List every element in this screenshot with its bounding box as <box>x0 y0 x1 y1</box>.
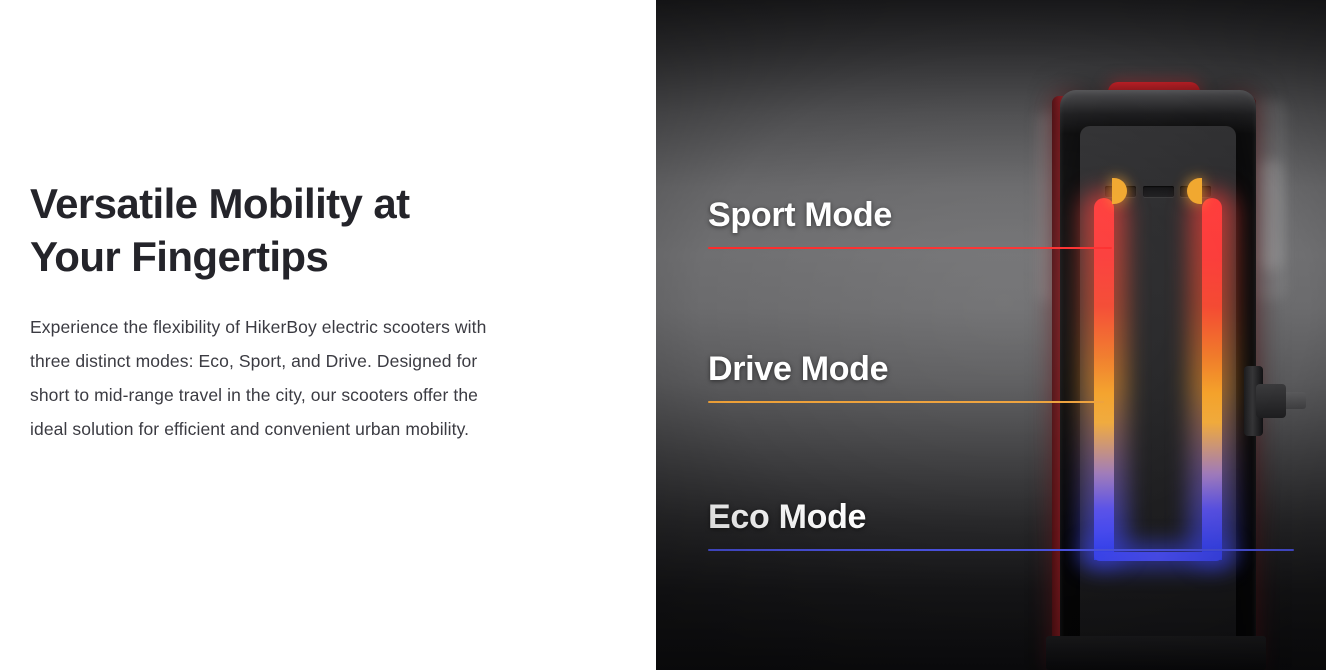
scooter-deck-base <box>1046 636 1266 670</box>
stem-clamp-lever <box>1256 384 1286 418</box>
page-title: Versatile Mobility at Your Fingertips <box>30 178 530 284</box>
callout-line-drive <box>708 401 1104 403</box>
callout-label-drive: Drive Mode <box>708 350 1104 389</box>
callout-drive-mode: Drive Mode <box>708 350 1104 403</box>
scooter-illustration <box>656 0 1326 670</box>
callout-eco-mode: Eco Mode <box>708 498 1294 551</box>
callout-label-eco: Eco Mode <box>708 498 1294 537</box>
background-blur-shape <box>1256 160 1282 270</box>
led-bottom-connector <box>1094 552 1222 561</box>
body-paragraph: Experience the flexibility of HikerBoy e… <box>30 310 520 446</box>
text-column: Versatile Mobility at Your Fingertips Ex… <box>0 0 656 670</box>
text-block: Versatile Mobility at Your Fingertips Ex… <box>30 178 530 446</box>
vent-slot <box>1143 186 1174 197</box>
callout-sport-mode: Sport Mode <box>708 196 1112 249</box>
product-image-panel: Sport Mode Drive Mode Eco Mode <box>656 0 1326 670</box>
callout-line-eco <box>708 549 1294 551</box>
callout-line-sport <box>708 247 1112 249</box>
product-feature-section: Versatile Mobility at Your Fingertips Ex… <box>0 0 1326 670</box>
callout-label-sport: Sport Mode <box>708 196 1112 235</box>
